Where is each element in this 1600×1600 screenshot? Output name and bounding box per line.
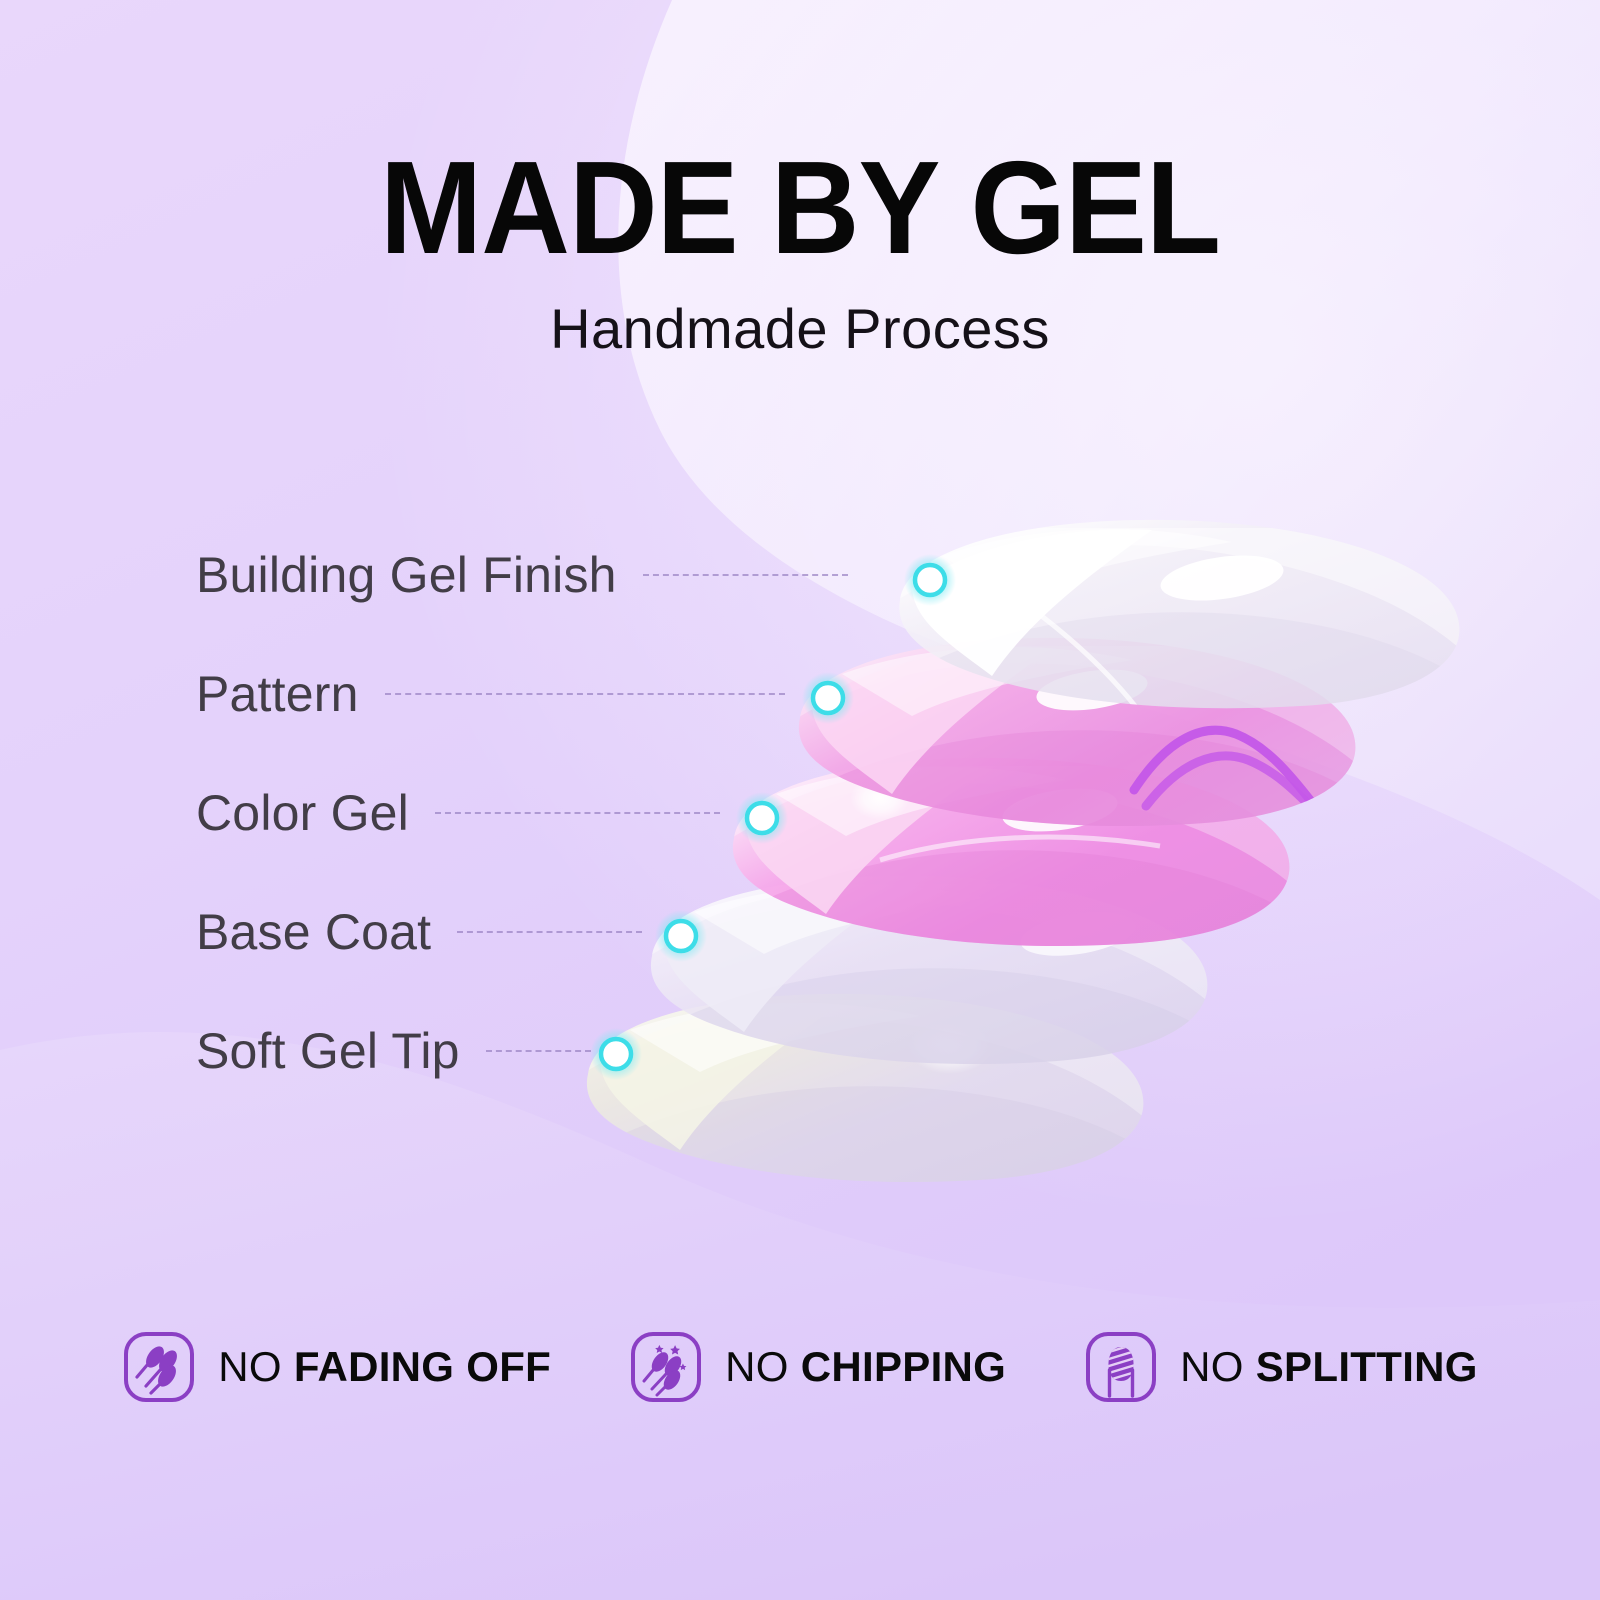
layer-label-text: Building Gel Finish — [196, 546, 617, 604]
leader-line — [643, 574, 848, 576]
badge-emphasis: CHIPPING — [801, 1343, 1006, 1390]
leader-line — [486, 1050, 591, 1052]
feature-badge-label: NO CHIPPING — [725, 1343, 1006, 1391]
badge-emphasis: FADING OFF — [294, 1343, 551, 1390]
feature-badge-row: NO FADING OFF — [0, 1330, 1600, 1404]
layer-label-base-coat[interactable]: Base Coat — [196, 903, 642, 961]
feature-badge-no-splitting[interactable]: NO SPLITTING — [1084, 1330, 1478, 1404]
layer-label-text: Soft Gel Tip — [196, 1022, 460, 1080]
feature-badge-label: NO FADING OFF — [218, 1343, 551, 1391]
leader-line — [385, 693, 785, 695]
nail-strokes-icon — [122, 1330, 196, 1404]
layer-label-text: Base Coat — [196, 903, 431, 961]
layer-label-soft-gel-tip[interactable]: Soft Gel Tip — [196, 1022, 591, 1080]
feature-badge-no-chipping[interactable]: NO CHIPPING — [629, 1330, 1006, 1404]
feature-badge-label: NO SPLITTING — [1180, 1343, 1478, 1391]
badge-prefix: NO — [218, 1343, 294, 1390]
badge-emphasis: SPLITTING — [1256, 1343, 1478, 1390]
layer-label-building-gel-finish[interactable]: Building Gel Finish — [196, 546, 848, 604]
layer-label-text: Pattern — [196, 665, 359, 723]
layer-label-color-gel[interactable]: Color Gel — [196, 784, 720, 842]
badge-prefix: NO — [1180, 1343, 1256, 1390]
badge-prefix: NO — [725, 1343, 801, 1390]
leader-line — [435, 812, 720, 814]
leader-line — [457, 931, 642, 933]
nail-sparkle-icon — [629, 1330, 703, 1404]
layer-label-pattern[interactable]: Pattern — [196, 665, 785, 723]
layer-label-text: Color Gel — [196, 784, 409, 842]
feature-badge-no-fading-off[interactable]: NO FADING OFF — [122, 1330, 551, 1404]
nail-striped-icon — [1084, 1330, 1158, 1404]
